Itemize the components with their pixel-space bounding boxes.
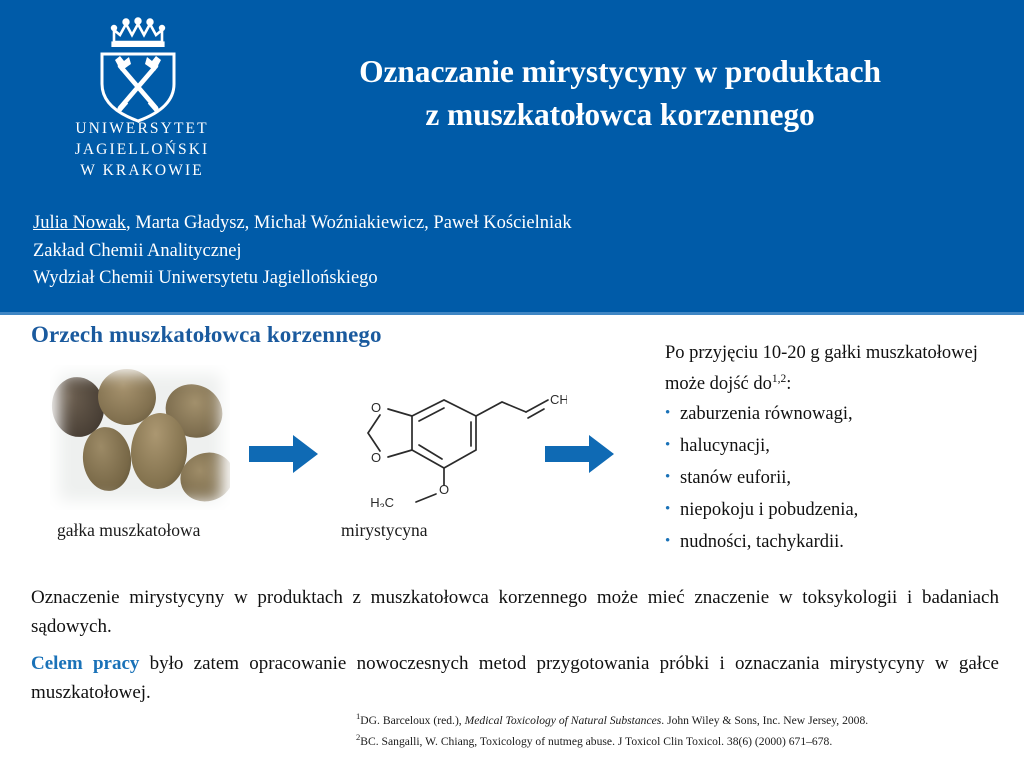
authors-line: Julia Nowak, Marta Gładysz, Michał Woźni…	[33, 210, 853, 238]
myristicin-structure-diagram: O O O H3C CH2	[352, 382, 567, 507]
effects-intro-colon: :	[786, 374, 791, 394]
effects-intro-text: Po przyjęciu 10-20 g gałki muszkatołowej…	[665, 343, 978, 394]
title-line-2: z muszkatołowca korzennego	[232, 93, 1008, 136]
structure-label-terminal-ch2: CH2	[550, 392, 567, 409]
effects-intro: Po przyjęciu 10-20 g gałki muszkatołowej…	[665, 340, 1010, 397]
structure-label-methoxy-oxygen: O	[439, 482, 449, 497]
list-item: halucynacji,	[665, 434, 1010, 458]
presenting-author: Julia Nowak	[33, 213, 126, 233]
jagiellonian-coat-of-arms-icon	[62, 8, 222, 128]
structure-label-oxygen-top: O	[371, 400, 381, 415]
effects-block: Po przyjęciu 10-20 g gałki muszkatołowej…	[665, 340, 1010, 562]
goal-text: było zatem opracowanie nowoczesnych meto…	[31, 653, 999, 703]
affiliation-line-2: Wydział Chemii Uniwersytetu Jagielloński…	[33, 265, 853, 293]
title-line-1: Oznaczanie mirystycyny w produktach	[232, 50, 1008, 93]
list-item: stanów euforii,	[665, 466, 1010, 490]
section-heading: Orzech muszkatołowca korzennego	[31, 322, 382, 348]
university-logo: UNIWERSYTET JAGIELLOŃSKI W KRAKOWIE	[62, 8, 222, 193]
reference-2-text: BC. Sangalli, W. Chiang, Toxicology of n…	[360, 735, 832, 748]
goal-label: Celem pracy	[31, 653, 139, 674]
authors-block: Julia Nowak, Marta Gładysz, Michał Woźni…	[33, 210, 853, 293]
body-paragraphs: Oznaczenie mirystycyny w produktach z mu…	[31, 583, 999, 707]
university-logo-text: UNIWERSYTET JAGIELLOŃSKI W KRAKOWIE	[62, 118, 222, 181]
paragraph-significance: Oznaczenie mirystycyny w produktach z mu…	[31, 583, 999, 641]
coauthors: , Marta Gładysz, Michał Woźniakiewicz, P…	[126, 213, 572, 233]
paragraph-goal: Celem pracy było zatem opracowanie nowoc…	[31, 649, 999, 707]
list-item: nudności, tachykardii.	[665, 530, 1010, 554]
reference-1-authors: DG. Barceloux (red.),	[360, 714, 464, 727]
poster-title: Oznaczanie mirystycyny w produktach z mu…	[232, 50, 1008, 136]
affiliation-line-1: Zakład Chemii Analitycznej	[33, 238, 853, 266]
effects-intro-citation: 1,2	[772, 373, 786, 385]
reference-1: 1DG. Barceloux (red.), Medical Toxicolog…	[356, 708, 1006, 729]
references-block: 1DG. Barceloux (red.), Medical Toxicolog…	[356, 708, 1006, 750]
reference-1-publisher: . John Wiley & Sons, Inc. New Jersey, 20…	[661, 714, 868, 727]
structure-caption: mirystycyna	[341, 520, 428, 541]
reference-2: 2BC. Sangalli, W. Chiang, Toxicology of …	[356, 729, 1006, 750]
list-item: niepokoju i pobudzenia,	[665, 498, 1010, 522]
structure-label-methyl: H3C	[370, 495, 394, 507]
logo-line-3: W KRAKOWIE	[62, 160, 222, 181]
structure-label-oxygen-bottom: O	[371, 450, 381, 465]
photo-caption: gałka muszkatołowa	[57, 520, 200, 541]
header-underline	[0, 312, 1024, 315]
nutmeg-seeds-photo	[50, 365, 230, 510]
list-item: zaburzenia równowagi,	[665, 402, 1010, 426]
effects-list: zaburzenia równowagi, halucynacji, stanó…	[665, 402, 1010, 554]
reference-1-title: Medical Toxicology of Natural Substances	[465, 714, 662, 727]
logo-line-2: JAGIELLOŃSKI	[62, 139, 222, 160]
arrow-right-icon	[545, 432, 615, 476]
arrow-right-icon	[249, 432, 319, 476]
logo-line-1: UNIWERSYTET	[62, 118, 222, 139]
